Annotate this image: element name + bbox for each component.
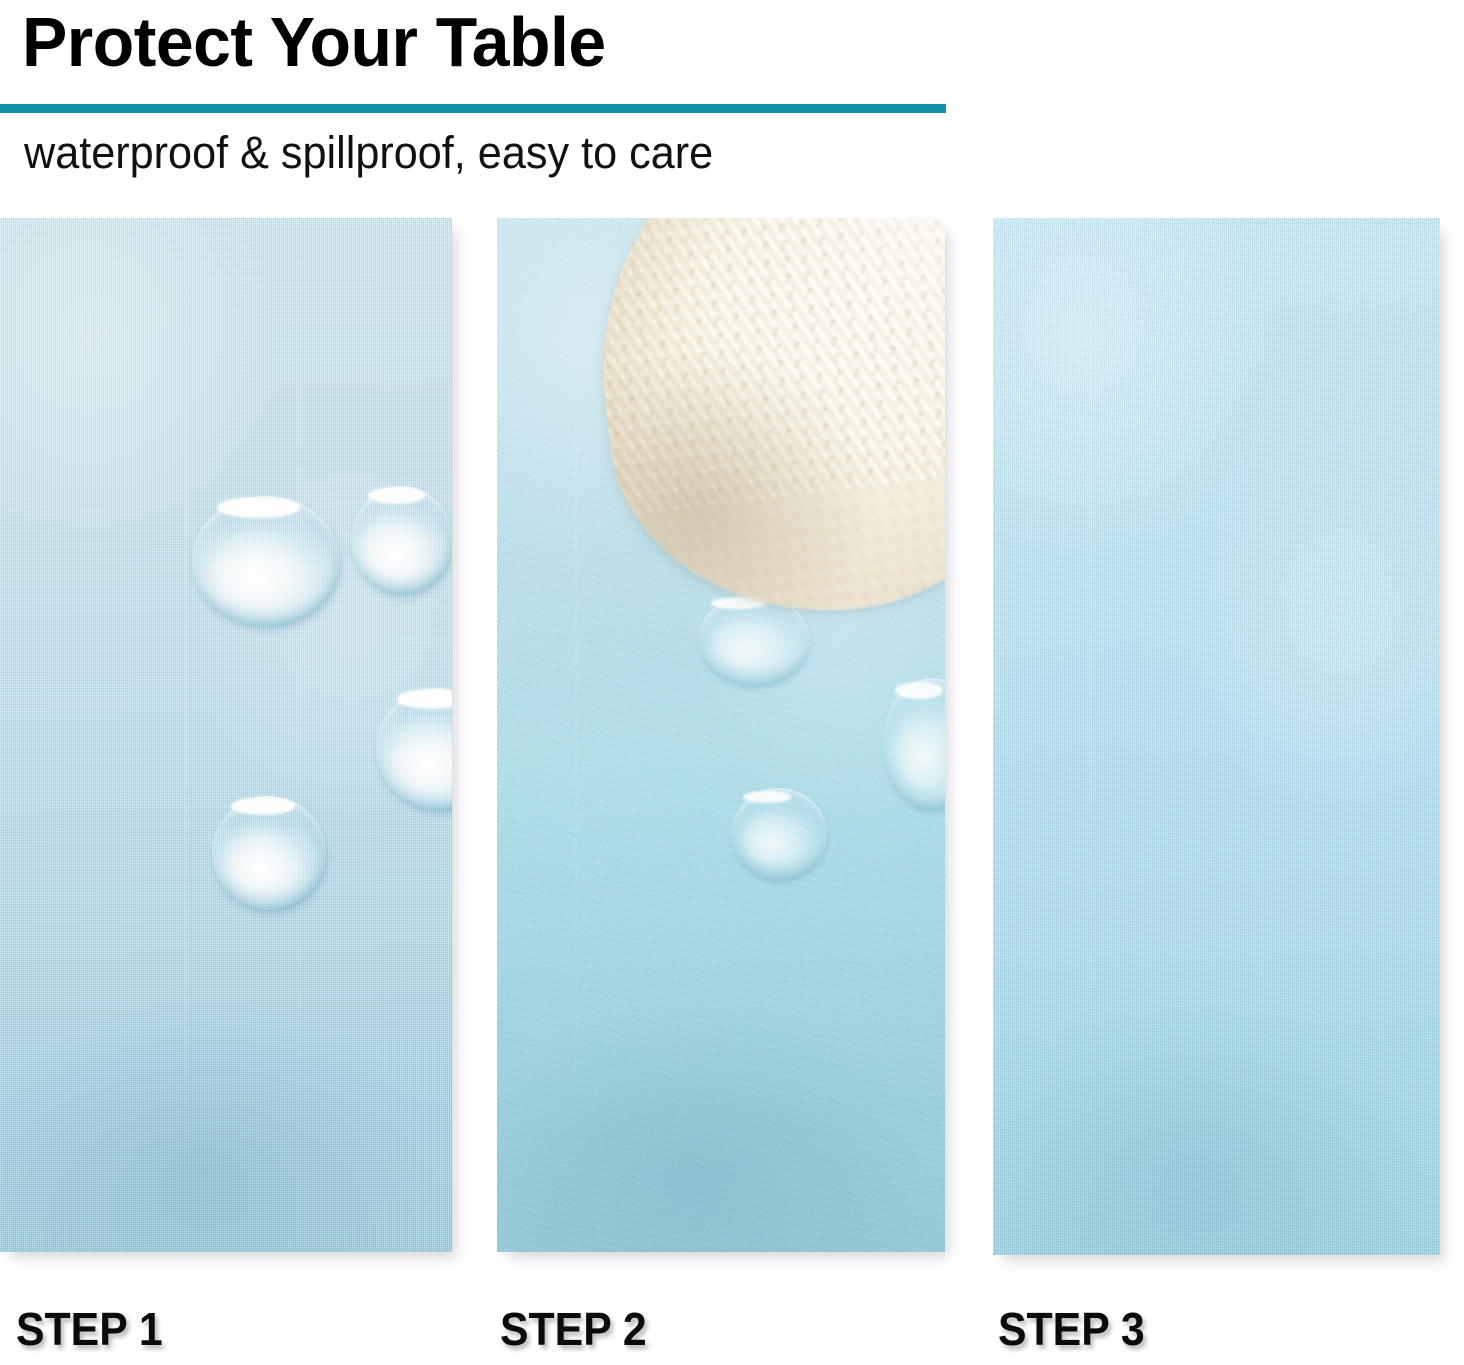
step-2-image-panel — [497, 218, 945, 1252]
white-terry-towel — [575, 218, 945, 636]
header-block: Protect Your Table waterproof & spillpro… — [0, 0, 1464, 200]
step-3-image-panel — [993, 218, 1440, 1255]
step-3-label: STEP 3 — [998, 1303, 1145, 1355]
step-1-label: STEP 1 — [16, 1303, 163, 1355]
step-1-image-panel — [0, 218, 452, 1252]
blue-fabric-background — [0, 218, 452, 1252]
page-title: Protect Your Table — [22, 2, 606, 82]
page-subtitle: waterproof & spillproof, easy to care — [24, 126, 713, 180]
blue-fabric-background — [993, 218, 1440, 1255]
step-2-label: STEP 2 — [500, 1303, 647, 1355]
title-divider-rule — [0, 104, 946, 113]
